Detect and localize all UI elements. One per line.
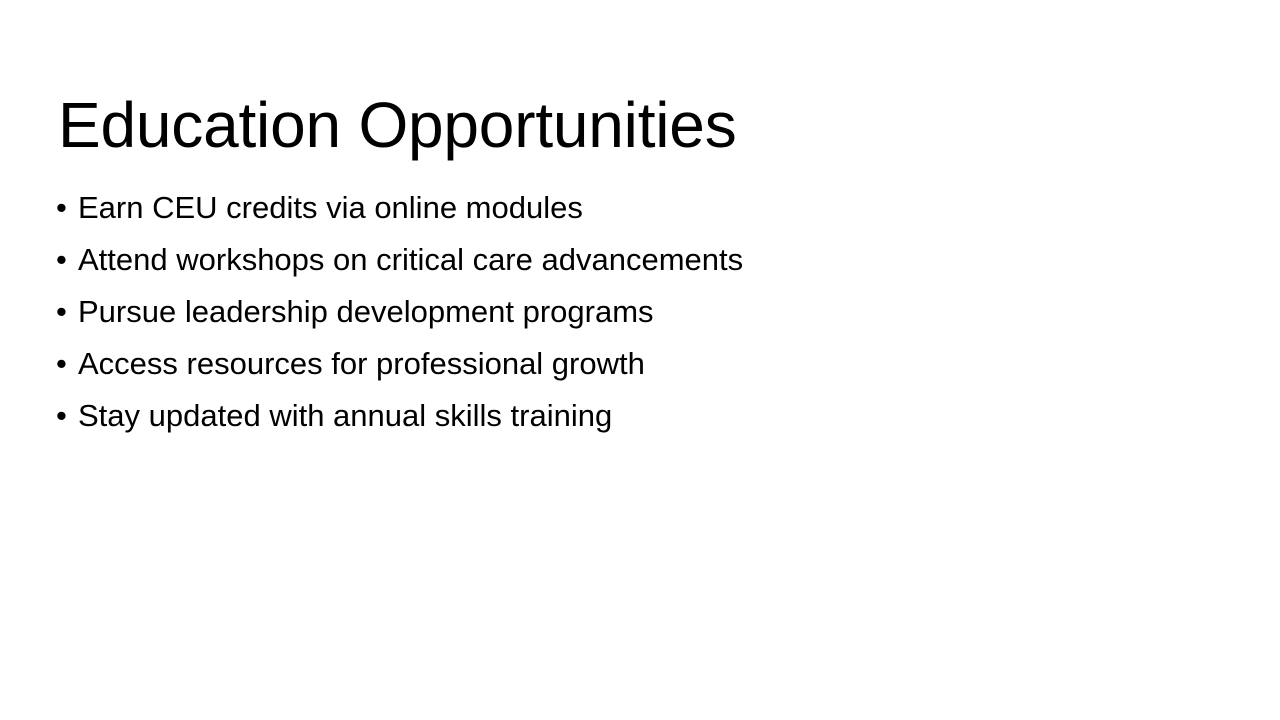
list-item: • Stay updated with annual skills traini… bbox=[56, 390, 1216, 442]
bullet-icon: • bbox=[56, 234, 78, 286]
list-item-label: Earn CEU credits via online modules bbox=[78, 182, 583, 234]
list-item-label: Attend workshops on critical care advanc… bbox=[78, 234, 743, 286]
list-item-label: Access resources for professional growth bbox=[78, 338, 645, 390]
bullet-icon: • bbox=[56, 338, 78, 390]
list-item: • Earn CEU credits via online modules bbox=[56, 182, 1216, 234]
list-item: • Access resources for professional grow… bbox=[56, 338, 1216, 390]
bullet-icon: • bbox=[56, 286, 78, 338]
list-item: • Pursue leadership development programs bbox=[56, 286, 1216, 338]
slide-canvas: Education Opportunities • Earn CEU credi… bbox=[0, 0, 1280, 720]
list-item: • Attend workshops on critical care adva… bbox=[56, 234, 1216, 286]
list-item-label: Stay updated with annual skills training bbox=[78, 390, 612, 442]
list-item-label: Pursue leadership development programs bbox=[78, 286, 654, 338]
bullet-list: • Earn CEU credits via online modules • … bbox=[56, 182, 1216, 442]
bullet-icon: • bbox=[56, 182, 78, 234]
bullet-icon: • bbox=[56, 390, 78, 442]
page-title: Education Opportunities bbox=[58, 88, 1188, 164]
